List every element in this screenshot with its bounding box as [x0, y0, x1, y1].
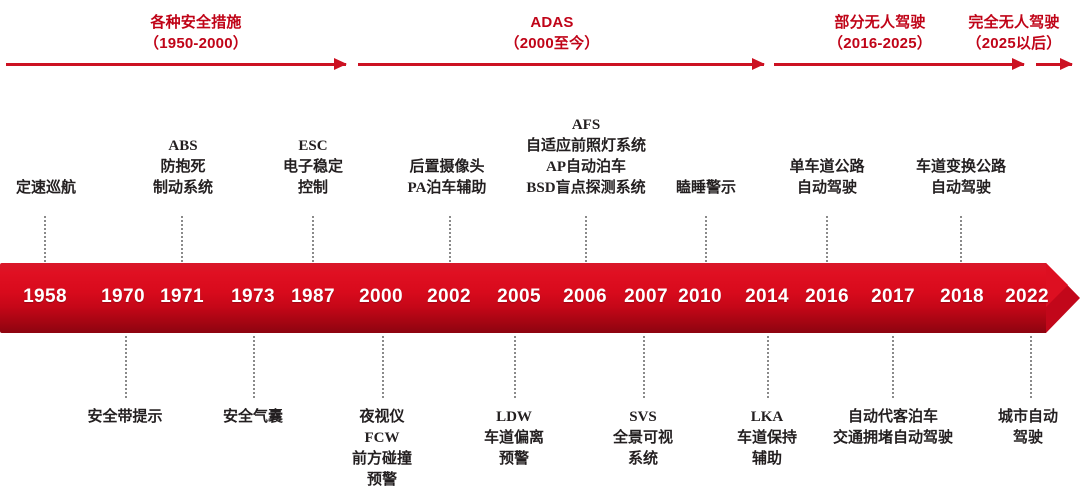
milestone-label-line: 瞌睡警示 [676, 178, 736, 199]
phase-arrow [774, 63, 1024, 66]
milestone-label-line: 车道保持 [737, 428, 797, 449]
milestone-label-line: BSD盲点探测系统 [526, 178, 646, 199]
year-label: 1958 [23, 286, 67, 308]
milestone-label-line: 自适应前照灯系统 [526, 136, 646, 157]
milestone-label-line: 辅助 [737, 449, 797, 470]
milestone-label-line: 安全带提示 [87, 407, 162, 428]
connector-dotted-line [514, 336, 518, 398]
milestone-label-line: FCW [352, 428, 412, 449]
milestone-label-line: 单车道公路 [789, 157, 864, 178]
milestone-label-line: 交通拥堵自动驾驶 [833, 428, 953, 449]
connector-dotted-line [705, 216, 709, 262]
connector-dotted-line [1030, 336, 1034, 398]
milestone-label: 夜视仪FCW前方碰撞预警 [352, 407, 412, 491]
milestone-label-line: 自动驾驶 [789, 178, 864, 199]
milestone-label-line: 驾驶 [998, 428, 1058, 449]
milestone-label-line: 车道偏离 [484, 428, 544, 449]
milestone-label-line: 预警 [352, 470, 412, 491]
phase-name: 完全无人驾驶 [968, 14, 1059, 31]
milestone-label: 城市自动驾驶 [998, 407, 1058, 449]
timeline-infographic: 各种安全措施（1950-2000）ADAS（2000至今）部分无人驾驶（2016… [0, 0, 1080, 493]
milestone-label: SVS全景可视系统 [613, 407, 673, 470]
connector-dotted-line [643, 336, 647, 398]
milestone-label-line: LDW [484, 407, 544, 428]
milestone-label-line: 车道变换公路 [916, 157, 1006, 178]
phase-arrow [1036, 63, 1072, 66]
milestone-label-line: 后置摄像头 [408, 157, 487, 178]
phase-arrow [6, 63, 346, 66]
connector-dotted-line [449, 216, 453, 262]
phase-name: ADAS [530, 14, 573, 31]
phase-period: （2025以后） [967, 33, 1062, 54]
milestone-label: LDW车道偏离预警 [484, 407, 544, 470]
phase-arrow [358, 63, 764, 66]
year-label: 2014 [745, 286, 789, 308]
milestone-label-line: 夜视仪 [352, 407, 412, 428]
milestone-label: 车道变换公路自动驾驶 [916, 157, 1006, 199]
phase-period: （2016-2025） [828, 33, 932, 54]
milestone-label-line: AFS [526, 115, 646, 136]
banner-arrow-tip-highlight [1046, 263, 1068, 307]
connector-dotted-line [892, 336, 896, 398]
milestone-label-line: 防抱死 [153, 157, 213, 178]
milestone-label: 单车道公路自动驾驶 [789, 157, 864, 199]
milestone-label: 自动代客泊车交通拥堵自动驾驶 [833, 407, 953, 449]
year-label: 2018 [940, 286, 984, 308]
connector-dotted-line [585, 216, 589, 262]
year-label: 2017 [871, 286, 915, 308]
milestone-label: ESC电子稳定控制 [283, 136, 343, 199]
year-label: 2010 [678, 286, 722, 308]
year-label: 1987 [291, 286, 335, 308]
milestone-label: 安全带提示 [87, 407, 162, 428]
year-label: 2005 [497, 286, 541, 308]
milestone-label-line: 制动系统 [153, 178, 213, 199]
connector-dotted-line [44, 216, 48, 262]
milestone-label-line: 城市自动 [998, 407, 1058, 428]
milestone-label-line: 控制 [283, 178, 343, 199]
year-label: 2002 [427, 286, 471, 308]
phase-name: 各种安全措施 [150, 14, 241, 31]
year-label: 1970 [101, 286, 145, 308]
milestone-label-line: 全景可视 [613, 428, 673, 449]
year-label: 1971 [160, 286, 204, 308]
milestone-label: 安全气囊 [223, 407, 283, 428]
milestone-label-line: 系统 [613, 449, 673, 470]
connector-dotted-line [181, 216, 185, 262]
milestone-label-line: 预警 [484, 449, 544, 470]
connector-dotted-line [382, 336, 386, 398]
year-label: 2022 [1005, 286, 1049, 308]
connector-dotted-line [312, 216, 316, 262]
phase-label: 完全无人驾驶（2025以后） [967, 12, 1062, 54]
connector-dotted-line [826, 216, 830, 262]
milestone-label-line: SVS [613, 407, 673, 428]
milestone-label-line: 自动代客泊车 [833, 407, 953, 428]
milestone-label: 瞌睡警示 [676, 178, 736, 199]
connector-dotted-line [767, 336, 771, 398]
phase-label: 各种安全措施（1950-2000） [144, 12, 248, 54]
year-label: 2007 [624, 286, 668, 308]
year-label: 2016 [805, 286, 849, 308]
milestone-label-line: 安全气囊 [223, 407, 283, 428]
milestone-label-line: 前方碰撞 [352, 449, 412, 470]
connector-dotted-line [253, 336, 257, 398]
phase-label: 部分无人驾驶（2016-2025） [828, 12, 932, 54]
milestone-label: ABS防抱死制动系统 [153, 136, 213, 199]
phase-name: 部分无人驾驶 [834, 14, 925, 31]
milestone-label-line: PA泊车辅助 [408, 178, 487, 199]
milestone-label-line: ESC [283, 136, 343, 157]
milestone-label-line: LKA [737, 407, 797, 428]
phase-period: （1950-2000） [144, 33, 248, 54]
milestone-label: 定速巡航 [16, 178, 76, 199]
milestone-label: LKA车道保持辅助 [737, 407, 797, 470]
phase-period: （2000至今） [505, 33, 600, 54]
connector-dotted-line [125, 336, 129, 398]
milestone-label-line: 定速巡航 [16, 178, 76, 199]
milestone-label-line: AP自动泊车 [526, 157, 646, 178]
milestone-label-line: 自动驾驶 [916, 178, 1006, 199]
milestone-label: 后置摄像头PA泊车辅助 [408, 157, 487, 199]
phase-label: ADAS（2000至今） [505, 12, 600, 54]
year-label: 1973 [231, 286, 275, 308]
milestone-label: AFS自适应前照灯系统AP自动泊车BSD盲点探测系统 [526, 115, 646, 199]
year-label: 2006 [563, 286, 607, 308]
milestone-label-line: 电子稳定 [283, 157, 343, 178]
connector-dotted-line [960, 216, 964, 262]
milestone-label-line: ABS [153, 136, 213, 157]
year-label: 2000 [359, 286, 403, 308]
